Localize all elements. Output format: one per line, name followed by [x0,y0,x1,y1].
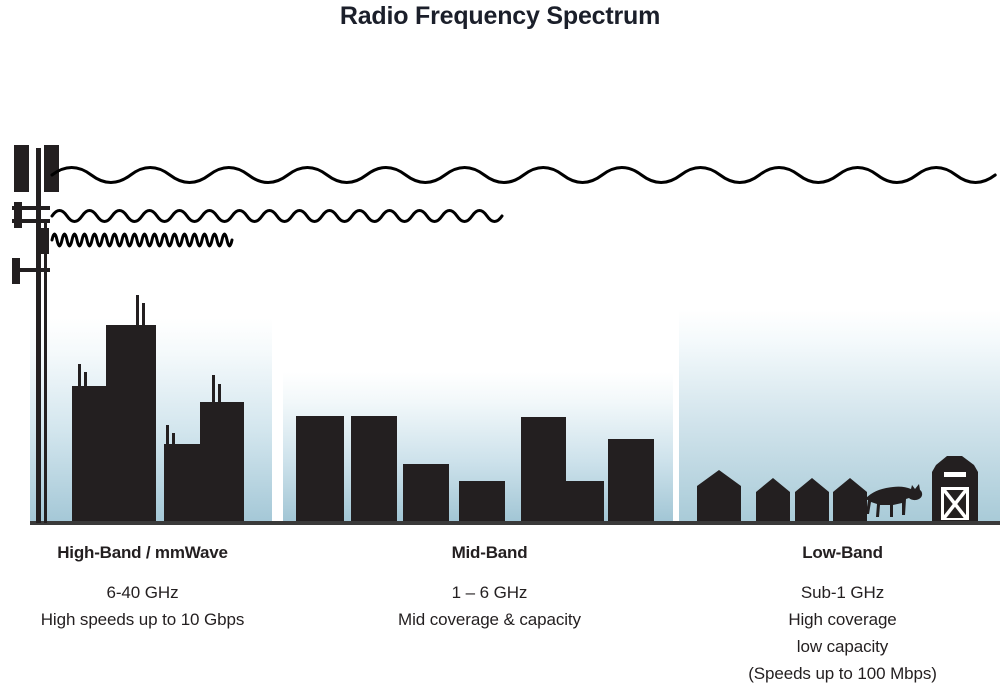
barn-icon [932,456,978,521]
house [756,478,790,521]
antenna-spire [136,295,139,327]
antenna-panel [14,202,22,228]
long-wavelength-wave [52,168,995,183]
cow-body [861,484,922,517]
ground-line [30,521,1000,525]
panel-high-band [30,295,272,521]
band-detail-high-1: High speeds up to 10 Gbps [5,606,280,633]
band-detail-mid-1: Mid coverage & capacity [352,606,627,633]
building [608,439,654,521]
band-title-low: Low-Band [700,543,985,563]
barn-body [932,456,978,521]
antenna-spire [218,384,221,404]
antenna-panel [12,258,20,284]
building [164,444,202,521]
panel-mid-band [283,372,673,521]
band-detail-low-3: (Speeds up to 100 Mbps) [700,660,985,687]
antenna-panel [14,145,29,192]
building [296,416,344,521]
band-detail-low-1: High coverage [700,606,985,633]
short-wavelength-wave [52,234,232,246]
antenna-spire [84,372,87,388]
radio-frequency-spectrum-infographic: Radio Frequency Spectrum [0,0,1000,700]
band-captions: High-Band / mmWave 6-40 GHz High speeds … [0,543,1000,700]
building [200,402,244,521]
mid-rise-buildings [296,416,654,521]
caption-mid-band: Mid-Band 1 – 6 GHz Mid coverage & capaci… [352,543,627,633]
building [72,386,116,521]
tower-crossbar [12,219,50,223]
tower-mast-secondary [44,220,47,523]
caption-low-band: Low-Band Sub-1 GHz High coverage low cap… [700,543,985,687]
panel-low-band [679,310,1000,521]
house [833,478,867,521]
tower-mast [36,148,41,523]
building [351,416,397,521]
medium-wavelength-wave [52,211,502,222]
band-detail-low-2: low capacity [700,633,985,660]
building [521,417,566,521]
barn-door [941,487,969,520]
tower-crossbar [12,206,50,210]
page-title: Radio Frequency Spectrum [0,2,1000,31]
sky-low-band [679,310,1000,521]
sky-high-band [30,318,272,521]
antenna-spire [142,303,145,327]
antenna-spire [172,433,175,446]
building [566,481,604,521]
antenna-spire [212,375,215,404]
barn-hayloft-window [944,472,966,477]
antenna-spire [78,364,81,388]
city-skyscrapers [72,295,244,521]
house [795,478,829,521]
band-frequency-mid: 1 – 6 GHz [352,579,627,606]
building [403,464,449,521]
band-title-mid: Mid-Band [352,543,627,563]
building [106,325,156,521]
caption-high-band: High-Band / mmWave 6-40 GHz High speeds … [5,543,280,633]
rural-scene [697,456,978,521]
cow-icon [861,484,922,517]
antenna-spire [166,425,169,446]
building [459,481,505,521]
tower-crossbar [12,268,50,272]
barn-door-cross [944,490,966,518]
band-title-high: High-Band / mmWave [5,543,280,563]
barn-door-panel [944,490,966,518]
sky-mid-band [283,372,673,521]
antenna-panel [44,145,59,192]
radio-waves [52,168,995,247]
antenna-panel [41,228,49,254]
band-frequency-high: 6-40 GHz [5,579,280,606]
cell-tower [12,145,59,523]
house [697,470,741,521]
band-frequency-low: Sub-1 GHz [700,579,985,606]
